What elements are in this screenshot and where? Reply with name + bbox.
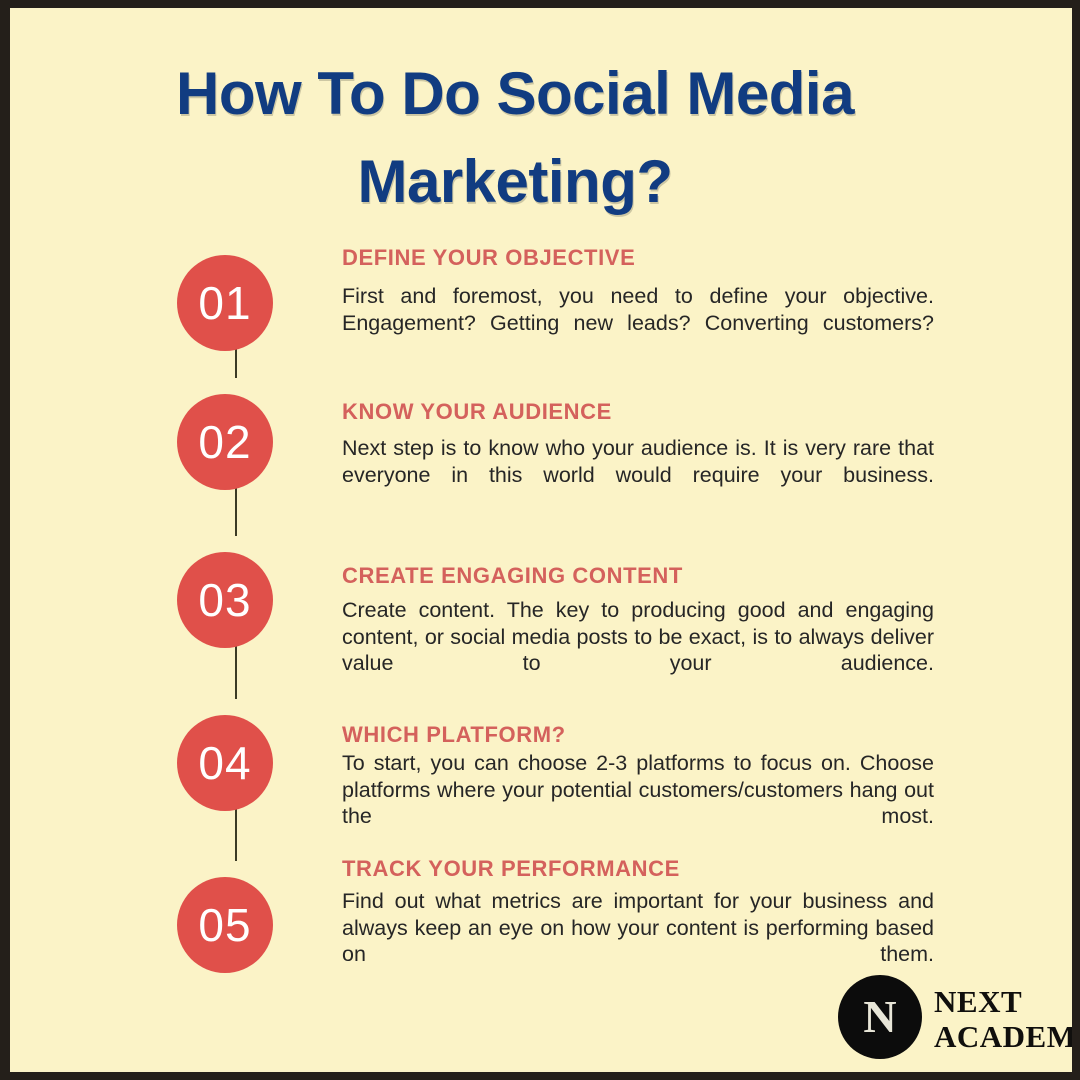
step-item-4: WHICH PLATFORM? To start, you can choose… xyxy=(342,721,934,856)
step-heading-5: TRACK YOUR PERFORMANCE xyxy=(342,855,934,883)
step-body-2: Next step is to know who your audience i… xyxy=(342,435,934,515)
page-title-line-2: Marketing? xyxy=(357,148,672,215)
step-heading-1: DEFINE YOUR OBJECTIVE xyxy=(342,244,934,272)
monogram-letter: N xyxy=(838,975,922,1059)
step-item-3: CREATE ENGAGING CONTENT Create content. … xyxy=(342,562,934,703)
step-marker-1: 01 xyxy=(177,255,273,351)
step-item-1: DEFINE YOUR OBJECTIVE First and foremost… xyxy=(342,244,934,363)
timeline-rail-column: 01 02 03 04 05 xyxy=(177,238,297,998)
step-marker-5: 05 xyxy=(177,877,273,973)
brand-logo-text: NEXT ACADEMY xyxy=(934,984,1072,1054)
brand-name-line-1: NEXT xyxy=(934,984,1022,1019)
next-academy-monogram-icon: N xyxy=(838,975,922,1059)
infographic-poster: How To Do Social Media Marketing? 01 02 … xyxy=(10,8,1072,1072)
page-title: How To Do Social Media Marketing? xyxy=(50,50,980,226)
brand-name-line-2: ACADEMY xyxy=(934,1019,1072,1054)
step-body-3: Create content. The key to producing goo… xyxy=(342,597,934,703)
step-heading-2: KNOW YOUR AUDIENCE xyxy=(342,398,934,426)
step-marker-2: 02 xyxy=(177,394,273,490)
brand-logo: N NEXT ACADEMY xyxy=(838,970,1064,1066)
step-body-4: To start, you can choose 2-3 platforms t… xyxy=(342,750,934,856)
step-item-2: KNOW YOUR AUDIENCE Next step is to know … xyxy=(342,398,934,515)
step-heading-3: CREATE ENGAGING CONTENT xyxy=(342,562,934,590)
page-title-line-1: How To Do Social Media xyxy=(176,60,854,127)
step-marker-3: 03 xyxy=(177,552,273,648)
step-marker-4: 04 xyxy=(177,715,273,811)
step-body-1: First and foremost, you need to define y… xyxy=(342,283,934,363)
step-heading-4: WHICH PLATFORM? xyxy=(342,721,934,749)
